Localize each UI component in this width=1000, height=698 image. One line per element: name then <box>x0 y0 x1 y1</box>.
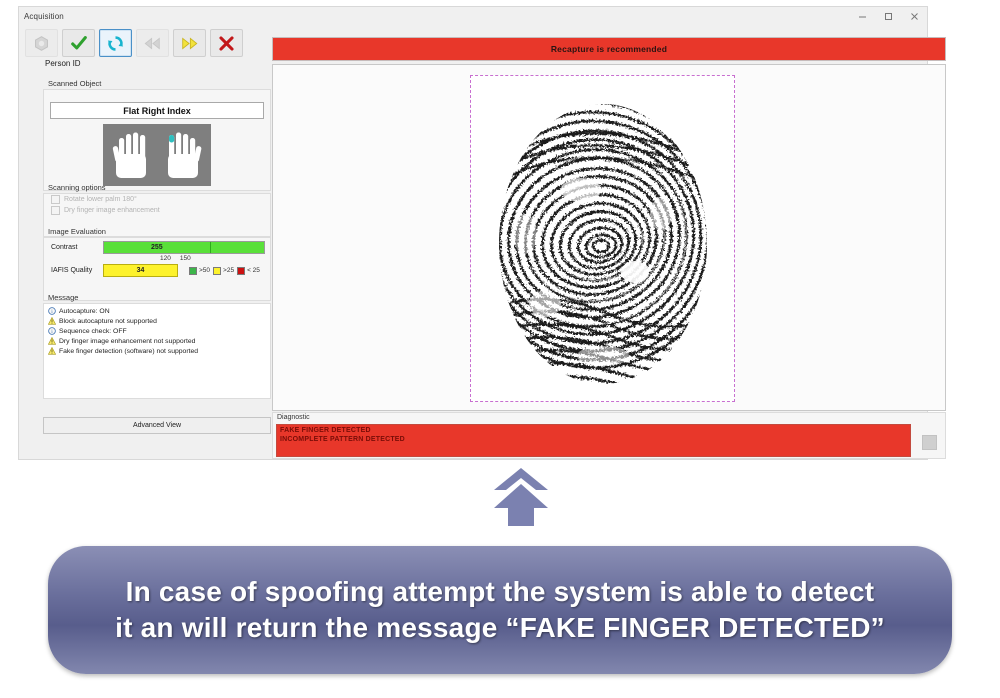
capture-area <box>470 75 735 402</box>
window-controls <box>849 7 927 25</box>
close-button[interactable] <box>901 7 927 25</box>
legend-swatch-green <box>189 267 197 275</box>
message-text: Sequence check: OFF <box>59 328 127 335</box>
diagnostic-messages: FAKE FINGER DETECTED INCOMPLETE PATTERN … <box>276 424 911 457</box>
rotate-lower-palm-checkbox[interactable] <box>51 195 60 204</box>
legend-text-mid: >25 <box>223 267 234 274</box>
message-text: Dry finger image enhancement not support… <box>59 338 195 345</box>
contrast-bar: 255 <box>103 241 265 254</box>
contrast-scale-ticks: 120150 <box>44 255 270 262</box>
message-text: Block autocapture not supported <box>59 318 157 325</box>
message-item: i Autocapture: ON <box>48 306 270 316</box>
quality-value: 34 <box>104 265 177 276</box>
legend-item-low: < 25 <box>237 267 260 275</box>
window-title: Acquisition <box>19 12 64 21</box>
contrast-value: 255 <box>104 242 210 253</box>
caption-banner: In case of spoofing attempt the system i… <box>48 546 952 674</box>
scanned-object-group: Flat Right Index <box>43 89 271 191</box>
legend-item-high: >50 <box>189 267 210 275</box>
cancel-x-button[interactable] <box>210 29 243 57</box>
previous-rewind-button[interactable] <box>136 29 169 57</box>
caption-text: In case of spoofing attempt the system i… <box>89 574 911 646</box>
info-icon: i <box>48 327 56 335</box>
caption-line-2: it an will return the message “FAKE FING… <box>115 610 885 646</box>
hands-illustration <box>103 124 211 186</box>
message-item: Block autocapture not supported <box>48 316 270 326</box>
status-banner-text: Recapture is recommended <box>551 44 667 54</box>
maximize-button[interactable] <box>875 7 901 25</box>
window-titlebar: Acquisition <box>19 7 927 25</box>
scanned-object-value: Flat Right Index <box>50 102 264 119</box>
message-text: Autocapture: ON <box>59 308 110 315</box>
status-banner: Recapture is recommended <box>272 37 946 61</box>
message-group: i Autocapture: ON Block autocapture not … <box>43 303 271 399</box>
left-panel: Person ID Scanned Object Flat Right Inde… <box>19 59 269 459</box>
dry-finger-enhancement-label: Dry finger image enhancement <box>64 207 160 214</box>
legend-text-low: < 25 <box>247 267 260 274</box>
diagnostic-group-label: Diagnostic <box>273 413 945 421</box>
diagnostic-line: INCOMPLETE PATTERN DETECTED <box>280 435 910 444</box>
message-list: i Autocapture: ON Block autocapture not … <box>44 304 270 356</box>
diagnostic-line: FAKE FINGER DETECTED <box>280 426 910 435</box>
message-item: i Sequence check: OFF <box>48 326 270 336</box>
previous-rewind-icon <box>144 35 161 52</box>
minimize-button[interactable] <box>849 7 875 25</box>
contrast-label: Contrast <box>51 244 98 251</box>
acquisition-window: Acquisition <box>18 6 928 460</box>
cancel-x-icon <box>218 35 235 52</box>
message-item: Dry finger image enhancement not support… <box>48 336 270 346</box>
quality-bar: 34 <box>103 264 178 277</box>
quality-row: IAFIS Quality 34 >50 >25 < 25 <box>44 262 270 277</box>
highlighted-finger <box>169 135 174 143</box>
fingerprint-image-panel[interactable] <box>272 64 946 411</box>
acquisition-toolbar <box>25 29 243 57</box>
device-icon-button[interactable] <box>25 29 58 57</box>
quality-label: IAFIS Quality <box>51 267 98 274</box>
accept-check-button[interactable] <box>62 29 95 57</box>
next-forward-button[interactable] <box>173 29 206 57</box>
device-icon <box>33 35 50 52</box>
diagnostic-scroll-handle[interactable] <box>922 435 937 450</box>
warning-icon <box>48 347 56 355</box>
message-text: Fake finger detection (software) not sup… <box>59 348 198 355</box>
option-dry-finger-enhancement[interactable]: Dry finger image enhancement <box>44 205 270 216</box>
fingerprint-image <box>485 94 721 390</box>
legend-item-mid: >25 <box>213 267 234 275</box>
warning-icon <box>48 317 56 325</box>
legend-swatch-yellow <box>213 267 221 275</box>
quality-legend: >50 >25 < 25 <box>189 267 260 275</box>
message-item: Fake finger detection (software) not sup… <box>48 346 270 356</box>
caption-line-1: In case of spoofing attempt the system i… <box>115 574 885 610</box>
contrast-row: Contrast 255 <box>44 238 270 254</box>
dry-finger-enhancement-checkbox[interactable] <box>51 206 60 215</box>
person-id-label: Person ID <box>45 59 269 68</box>
recapture-refresh-icon <box>107 35 124 52</box>
advanced-view-button[interactable]: Advanced View <box>43 417 271 434</box>
diagnostic-group: Diagnostic FAKE FINGER DETECTED INCOMPLE… <box>272 412 946 459</box>
info-icon: i <box>48 307 56 315</box>
hands-diagram <box>103 124 211 186</box>
warning-icon <box>48 337 56 345</box>
scale-tick-1: 120 <box>160 255 171 262</box>
rotate-lower-palm-label: Rotate lower palm 180° <box>64 196 137 203</box>
double-chevron-up-icon <box>492 466 550 528</box>
accept-check-icon <box>70 34 88 52</box>
next-forward-icon <box>181 35 198 52</box>
legend-swatch-red <box>237 267 245 275</box>
scale-tick-2: 150 <box>180 255 191 262</box>
legend-text-high: >50 <box>199 267 210 274</box>
option-rotate-lower-palm[interactable]: Rotate lower palm 180° <box>44 194 270 205</box>
up-arrow-graphic <box>492 466 550 528</box>
recapture-refresh-button[interactable] <box>99 29 132 57</box>
